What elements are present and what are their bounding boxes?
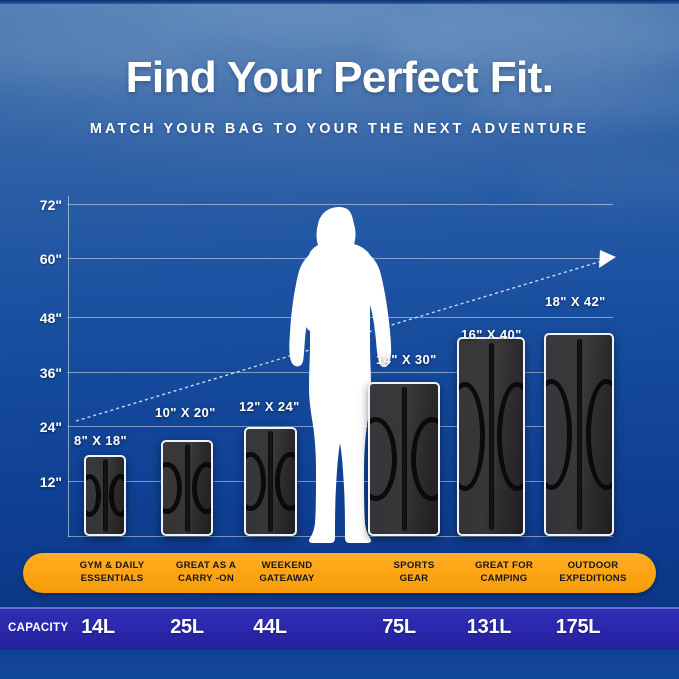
bag-arc-right-icon (109, 474, 126, 517)
bag-4-size-label: 14" X 30" (376, 352, 437, 367)
bag-1-size-label: 8" X 18" (74, 433, 127, 448)
capacity-value-1: 14L (68, 616, 128, 639)
bag-strap (402, 387, 407, 531)
use-case-bar: GYM & DAILY ESSENTIALS GREAT AS A CARRY … (23, 553, 656, 593)
infographic-root: Find Your Perfect Fit. MATCH YOUR BAG TO… (0, 0, 679, 679)
bag-strap (577, 339, 582, 530)
bag-2[interactable] (161, 440, 213, 536)
bag-1[interactable] (84, 455, 126, 536)
capacity-value-5: 131L (453, 616, 525, 639)
bag-5-size-label: 16" X 40" (461, 327, 522, 342)
bag-3-size-label: 12" X 24" (239, 399, 300, 414)
bag-strap (103, 459, 108, 533)
bag-3[interactable] (244, 427, 297, 536)
capacity-value-2: 25L (157, 616, 217, 639)
bag-strap (185, 444, 190, 532)
bag-2-size-label: 10" X 20" (155, 405, 216, 420)
use-case-6: OUTDOOR EXPEDITIONS (534, 560, 652, 585)
capacity-value-3: 44L (239, 616, 301, 639)
capacity-label: CAPACITY (8, 622, 68, 634)
capacity-value-6: 175L (540, 616, 616, 639)
bottom-strip (0, 650, 679, 679)
bag-4[interactable] (368, 382, 440, 536)
capacity-value-4: 75L (368, 616, 430, 639)
bag-6-size-label: 18" X 42" (545, 294, 606, 309)
bag-strap (268, 431, 273, 532)
bag-strap (489, 343, 494, 530)
bag-6[interactable] (544, 333, 614, 536)
use-case-3: WEEKEND GATEAWAY (230, 560, 344, 585)
capacity-bar: CAPACITY 14L 25L 44L 75L 131L 175L (0, 607, 679, 652)
bag-5[interactable] (457, 337, 525, 536)
bag-arc-right-icon (275, 452, 297, 511)
